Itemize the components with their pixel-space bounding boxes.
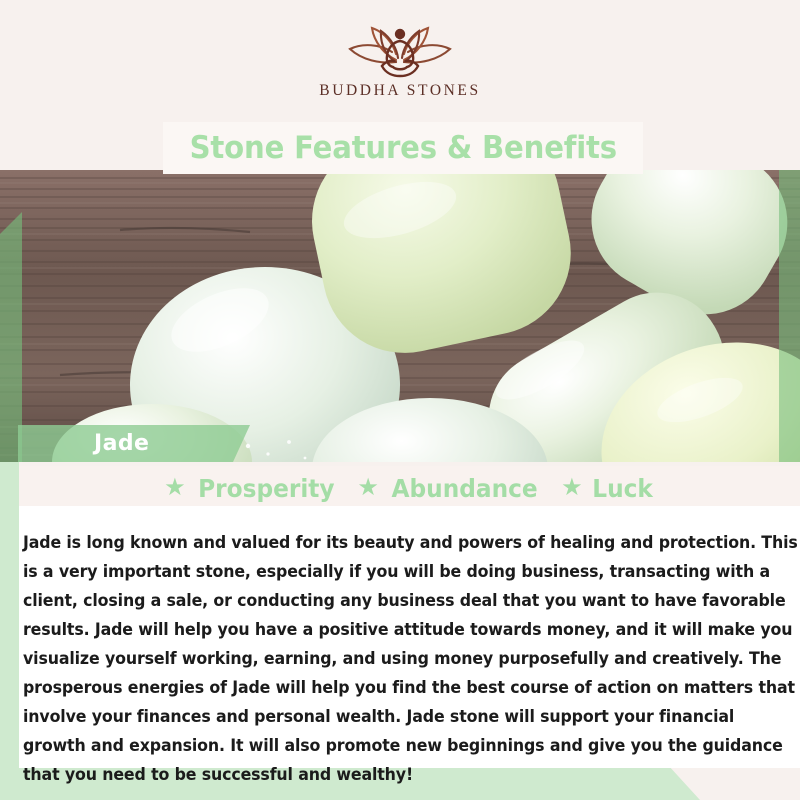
star-icon: ★: [164, 476, 186, 500]
stone-name: Jade: [94, 431, 149, 456]
star-icon: ★: [561, 476, 583, 500]
decor-frame-left: [0, 212, 22, 462]
star-icon: ★: [357, 476, 379, 500]
decor-frame-right: [779, 170, 800, 462]
page-title: Stone Features & Benefits: [189, 130, 616, 166]
lotus-meditation-icon: [336, 16, 464, 78]
page-title-band: Stone Features & Benefits: [163, 122, 643, 174]
description-panel: Jade is long known and valued for its be…: [19, 506, 800, 768]
stone-name-badge: Jade: [18, 425, 250, 462]
decor-frame-left-strip: [0, 462, 19, 800]
benefit-label: Abundance: [391, 474, 537, 503]
brand-name: BUDDHA STONES: [319, 82, 480, 100]
stone-info-poster: BUDDHA STONES Stone Features & Benefits: [0, 0, 800, 800]
benefit-item: ★ Luck: [561, 474, 655, 503]
benefits-row: ★ Prosperity ★ Abundance ★ Luck: [19, 466, 800, 510]
stone-photo: [0, 170, 800, 462]
benefit-label: Luck: [592, 474, 653, 503]
benefit-label: Prosperity: [198, 474, 334, 503]
benefit-item: ★ Abundance: [357, 474, 543, 503]
benefit-item: ★ Prosperity: [164, 474, 339, 503]
description-text: Jade is long known and valued for its be…: [23, 529, 800, 790]
brand-header: BUDDHA STONES: [0, 0, 800, 122]
